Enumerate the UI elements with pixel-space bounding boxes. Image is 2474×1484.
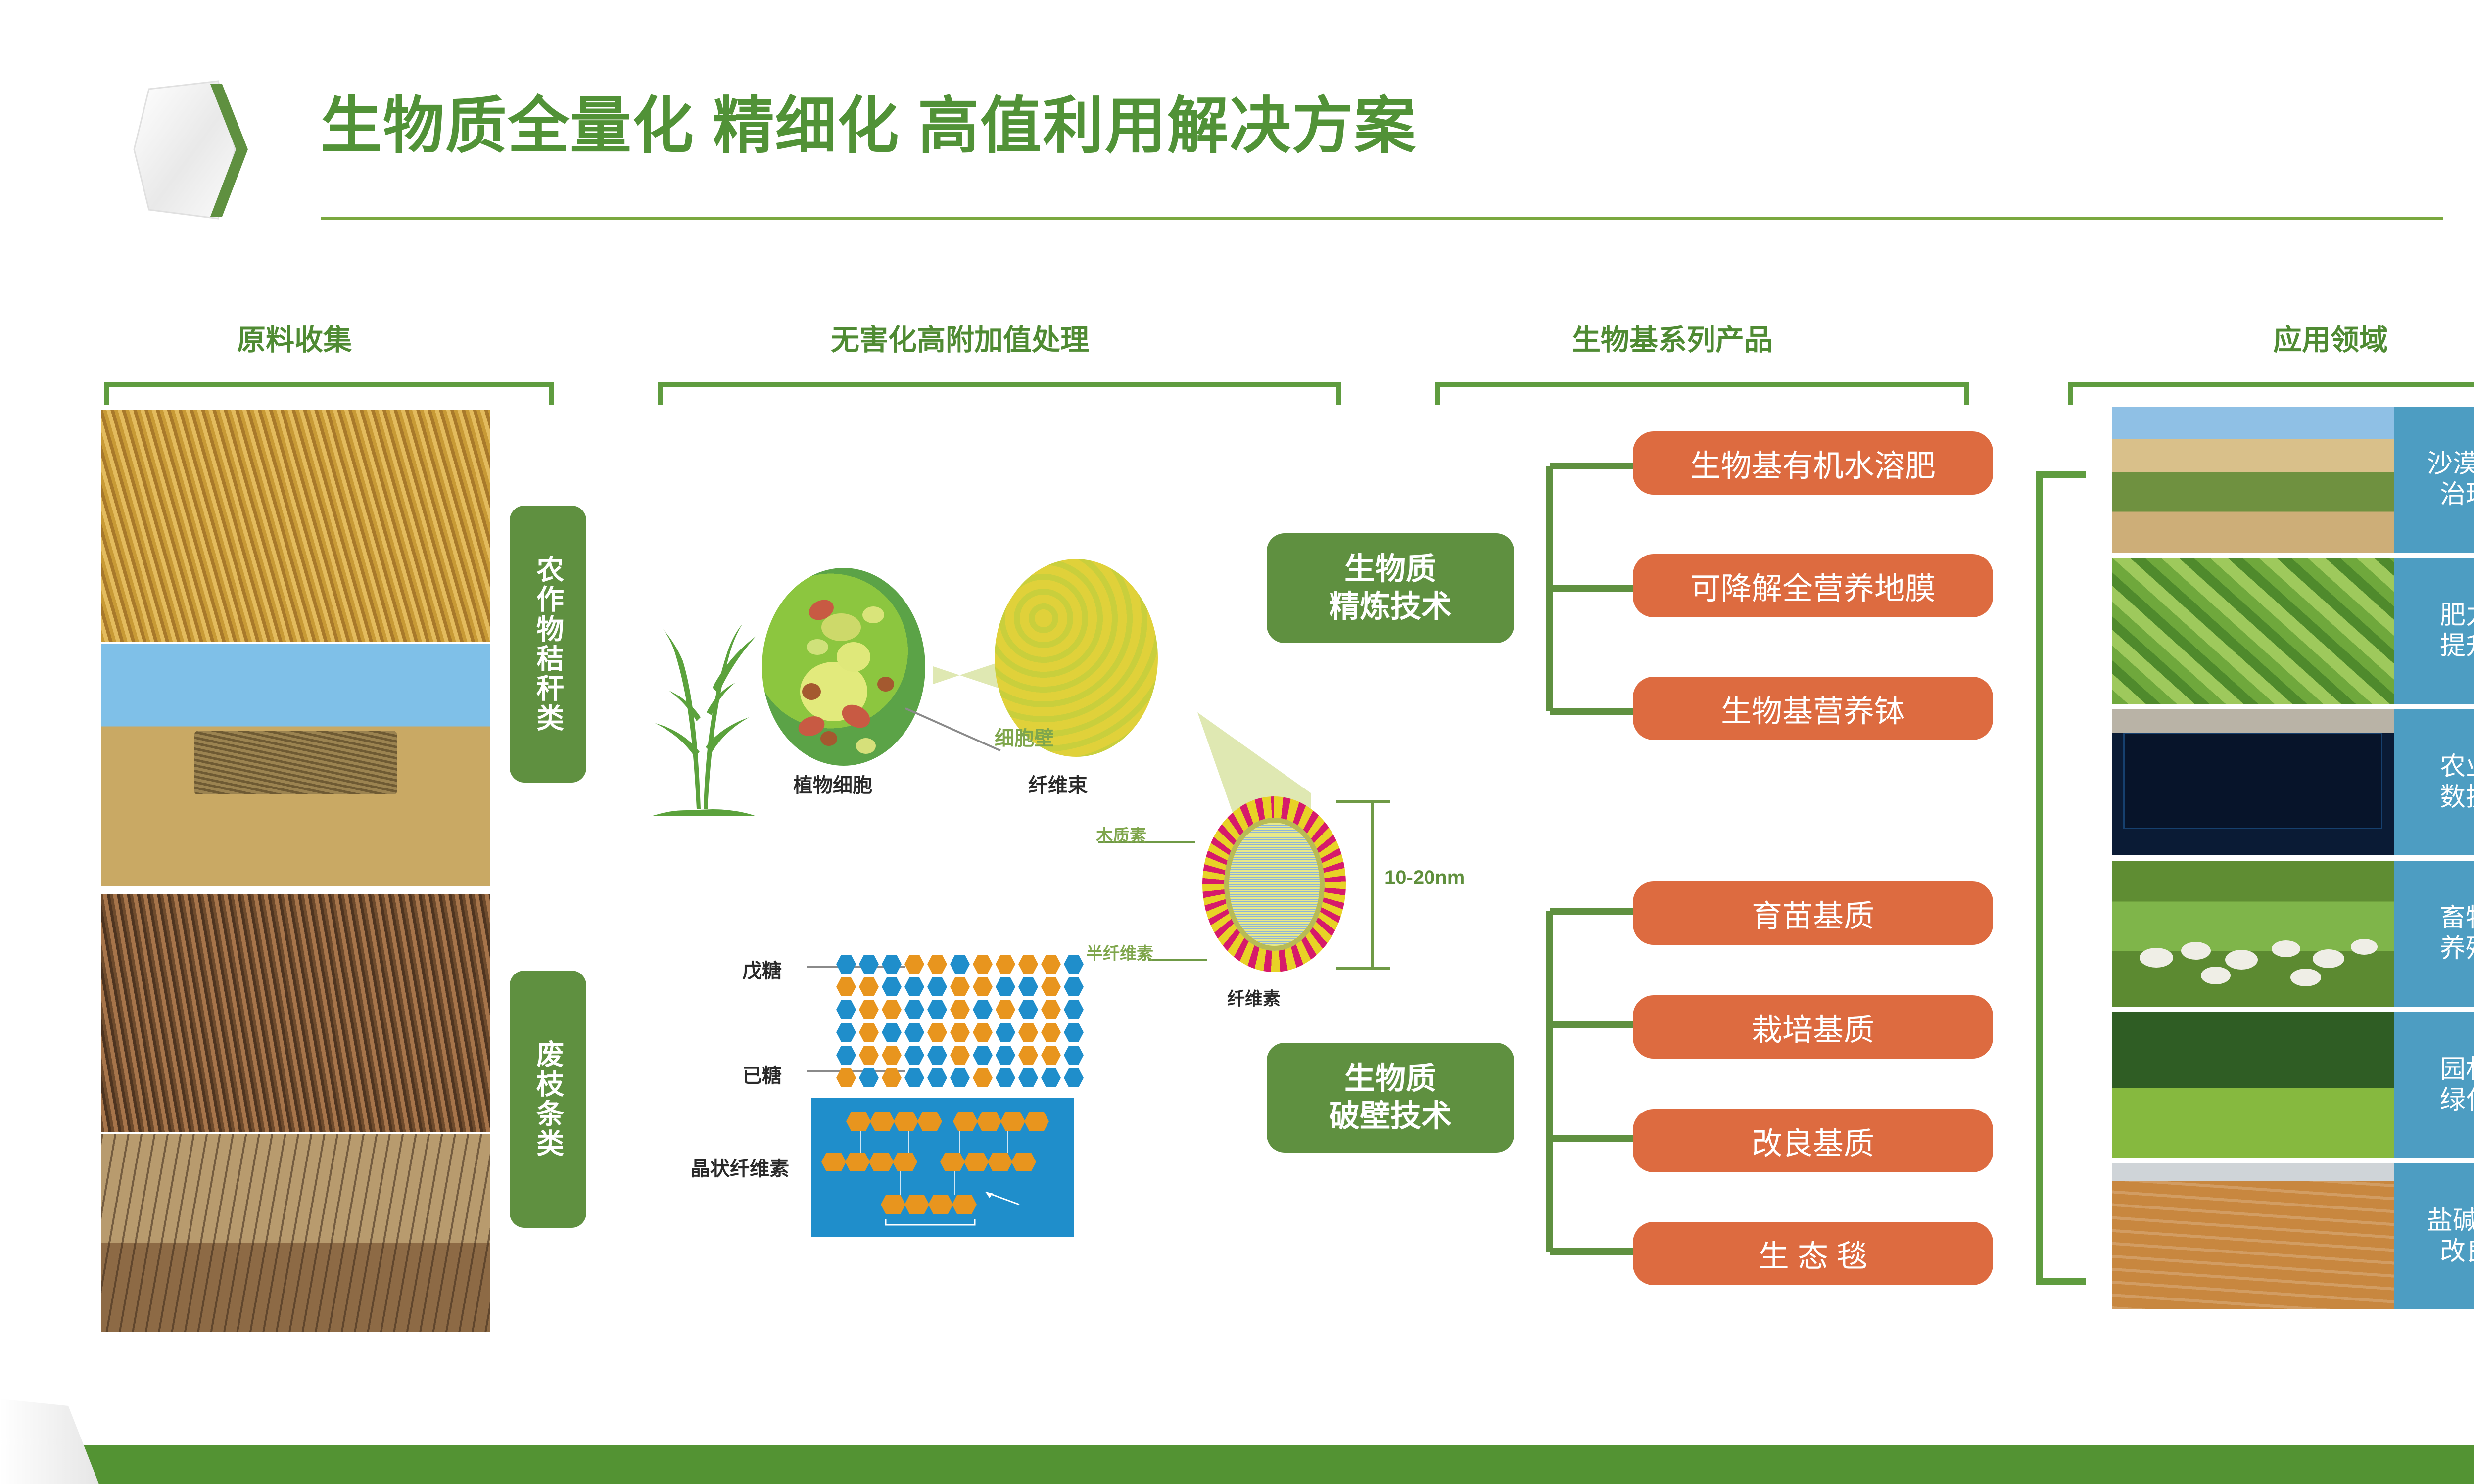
product-pill-cultivation-substrate-label: 栽培基质 <box>1752 1005 1874 1049</box>
label-cellulose: 纤维素 <box>1227 984 1281 1010</box>
section-header-applications: 应用领域 <box>2142 317 2474 358</box>
cellulose-microfibril-illustration <box>1202 796 1346 972</box>
product-pill-degradable-mulch-film-label: 可降解全营养地膜 <box>1690 563 1936 608</box>
photo-cabbage-field <box>2112 558 2394 704</box>
app-label-desertification-control: 沙漠化 治理 <box>2394 407 2474 553</box>
label-lignin: 木质素 <box>1096 822 1146 846</box>
label-dimension: 10-20nm <box>1384 867 1465 889</box>
photo-saline-land <box>2112 1163 2394 1309</box>
photo-desert-control <box>2112 407 2394 553</box>
section-header-processing: 无害化高附加值处理 <box>638 317 1282 358</box>
hemicellulose-leader-line <box>1148 959 1207 961</box>
title-divider <box>321 217 2443 220</box>
app-label-fertility-improvement-line2: 提升 <box>2440 631 2474 661</box>
bracket-applications-left <box>2036 471 2086 1285</box>
category-pill-crop-straw-label: 农作物秸秆类 <box>533 555 562 733</box>
app-label-fertility-improvement-line1: 肥力 <box>2440 601 2474 631</box>
photo-pruned-branches <box>101 894 490 1132</box>
page-title: 生物质全量化 精细化 高值利用解决方案 <box>321 94 1417 158</box>
product-pill-improvement-substrate[interactable]: 改良基质 <box>1633 1109 1993 1172</box>
app-label-livestock-breeding-line1: 畜牧 <box>2440 903 2474 933</box>
dimension-bar <box>1371 800 1374 970</box>
tech-box-refining-line2: 精炼技术 <box>1329 588 1452 626</box>
footer-wedge-shape <box>0 1375 376 1484</box>
label-crystalline-cellulose: 晶状纤维素 <box>690 1153 789 1181</box>
product-pill-ecological-blanket[interactable]: 生 态 毯 <box>1633 1222 1993 1285</box>
dimension-cap-top <box>1336 800 1390 803</box>
bracket-collection <box>104 382 554 405</box>
tech-box-biomass-refining[interactable]: 生物质 精炼技术 <box>1267 533 1514 643</box>
photo-corn-straw-field <box>101 410 490 642</box>
app-label-agriculture-data: 农业 数据 <box>2394 709 2474 855</box>
label-plant-cell: 植物细胞 <box>793 769 872 798</box>
dimension-cap-bottom <box>1336 967 1390 970</box>
plant-cell-illustration <box>762 568 925 766</box>
product-pill-cultivation-substrate[interactable]: 栽培基质 <box>1633 995 1993 1059</box>
product-pill-improvement-substrate-label: 改良基质 <box>1752 1118 1874 1163</box>
app-label-saline-land-improvement-line1: 盐碱地 <box>2427 1206 2474 1236</box>
label-hemicellulose: 半纤维素 <box>1086 940 1153 964</box>
category-pill-waste-branches: 废枝条类 <box>510 971 586 1228</box>
photo-vineyard-pruning <box>101 1134 490 1332</box>
app-label-landscape-greening-line1: 园林 <box>2440 1055 2474 1085</box>
section-header-collection: 原料收集 <box>156 317 433 358</box>
app-label-landscape-greening-line2: 绿化 <box>2440 1085 2474 1115</box>
app-label-saline-land-improvement: 盐碱地 改良 <box>2394 1163 2474 1309</box>
tech-box-wallbreak-line1: 生物质 <box>1329 1060 1452 1098</box>
label-hexose: 已糖 <box>742 1060 782 1088</box>
category-pill-crop-straw: 农作物秸秆类 <box>510 506 586 783</box>
app-label-desertification-control-line1: 沙漠化 <box>2427 449 2474 479</box>
bracket-processing <box>658 382 1341 405</box>
crystalline-cellulose-illustration <box>811 1098 1074 1237</box>
label-pentose: 戊糖 <box>742 955 782 983</box>
product-pill-water-soluble-fertilizer[interactable]: 生物基有机水溶肥 <box>1633 431 1993 495</box>
category-pill-waste-branches-label: 废枝条类 <box>533 1040 562 1159</box>
label-cell-wall: 细胞壁 <box>995 722 1054 751</box>
product-pill-nutrient-pot-label: 生物基营养钵 <box>1721 686 1905 731</box>
app-label-fertility-improvement: 肥力 提升 <box>2394 558 2474 704</box>
bracket-products <box>1435 382 1969 405</box>
product-pill-ecological-blanket-label: 生 态 毯 <box>1759 1231 1867 1276</box>
photo-landscape-greening <box>2112 1012 2394 1158</box>
app-label-agriculture-data-line1: 农业 <box>2440 752 2474 782</box>
product-pill-nutrient-pot[interactable]: 生物基营养钵 <box>1633 677 1993 740</box>
app-label-saline-land-improvement-line2: 改良 <box>2427 1237 2474 1267</box>
bracket-applications <box>2068 382 2474 405</box>
tech-box-wallbreak-line2: 破壁技术 <box>1329 1098 1452 1135</box>
label-fiber-bundle: 纤维束 <box>1028 769 1088 798</box>
photo-agriculture-data-center <box>2112 709 2394 855</box>
section-header-products: 生物基系列产品 <box>1425 317 1920 358</box>
app-label-livestock-breeding-line2: 养殖 <box>2440 934 2474 964</box>
infographic-root: 生物质全量化 精细化 高值利用解决方案 原料收集 无害化高附加值处理 生物基系列… <box>0 0 2474 1484</box>
product-pill-water-soluble-fertilizer-label: 生物基有机水溶肥 <box>1690 441 1936 485</box>
photo-straw-bale-field <box>101 644 490 886</box>
sugar-chain-diagram <box>836 955 1084 1091</box>
app-label-livestock-breeding: 畜牧 养殖 <box>2394 861 2474 1007</box>
app-label-agriculture-data-line2: 数据 <box>2440 783 2474 813</box>
product-pill-seedling-substrate[interactable]: 育苗基质 <box>1633 881 1993 945</box>
photo-grazing-sheep <box>2112 861 2394 1007</box>
tech-box-biomass-wall-breaking[interactable]: 生物质 破壁技术 <box>1267 1043 1514 1153</box>
tech-box-refining-line1: 生物质 <box>1329 551 1452 588</box>
app-label-desertification-control-line2: 治理 <box>2427 480 2474 510</box>
grass-plant-icon <box>638 539 767 816</box>
hexagon-badge-icon <box>131 75 275 224</box>
product-pill-degradable-mulch-film[interactable]: 可降解全营养地膜 <box>1633 554 1993 617</box>
app-label-landscape-greening: 园林 绿化 <box>2394 1012 2474 1158</box>
product-pill-seedling-substrate-label: 育苗基质 <box>1752 891 1874 935</box>
